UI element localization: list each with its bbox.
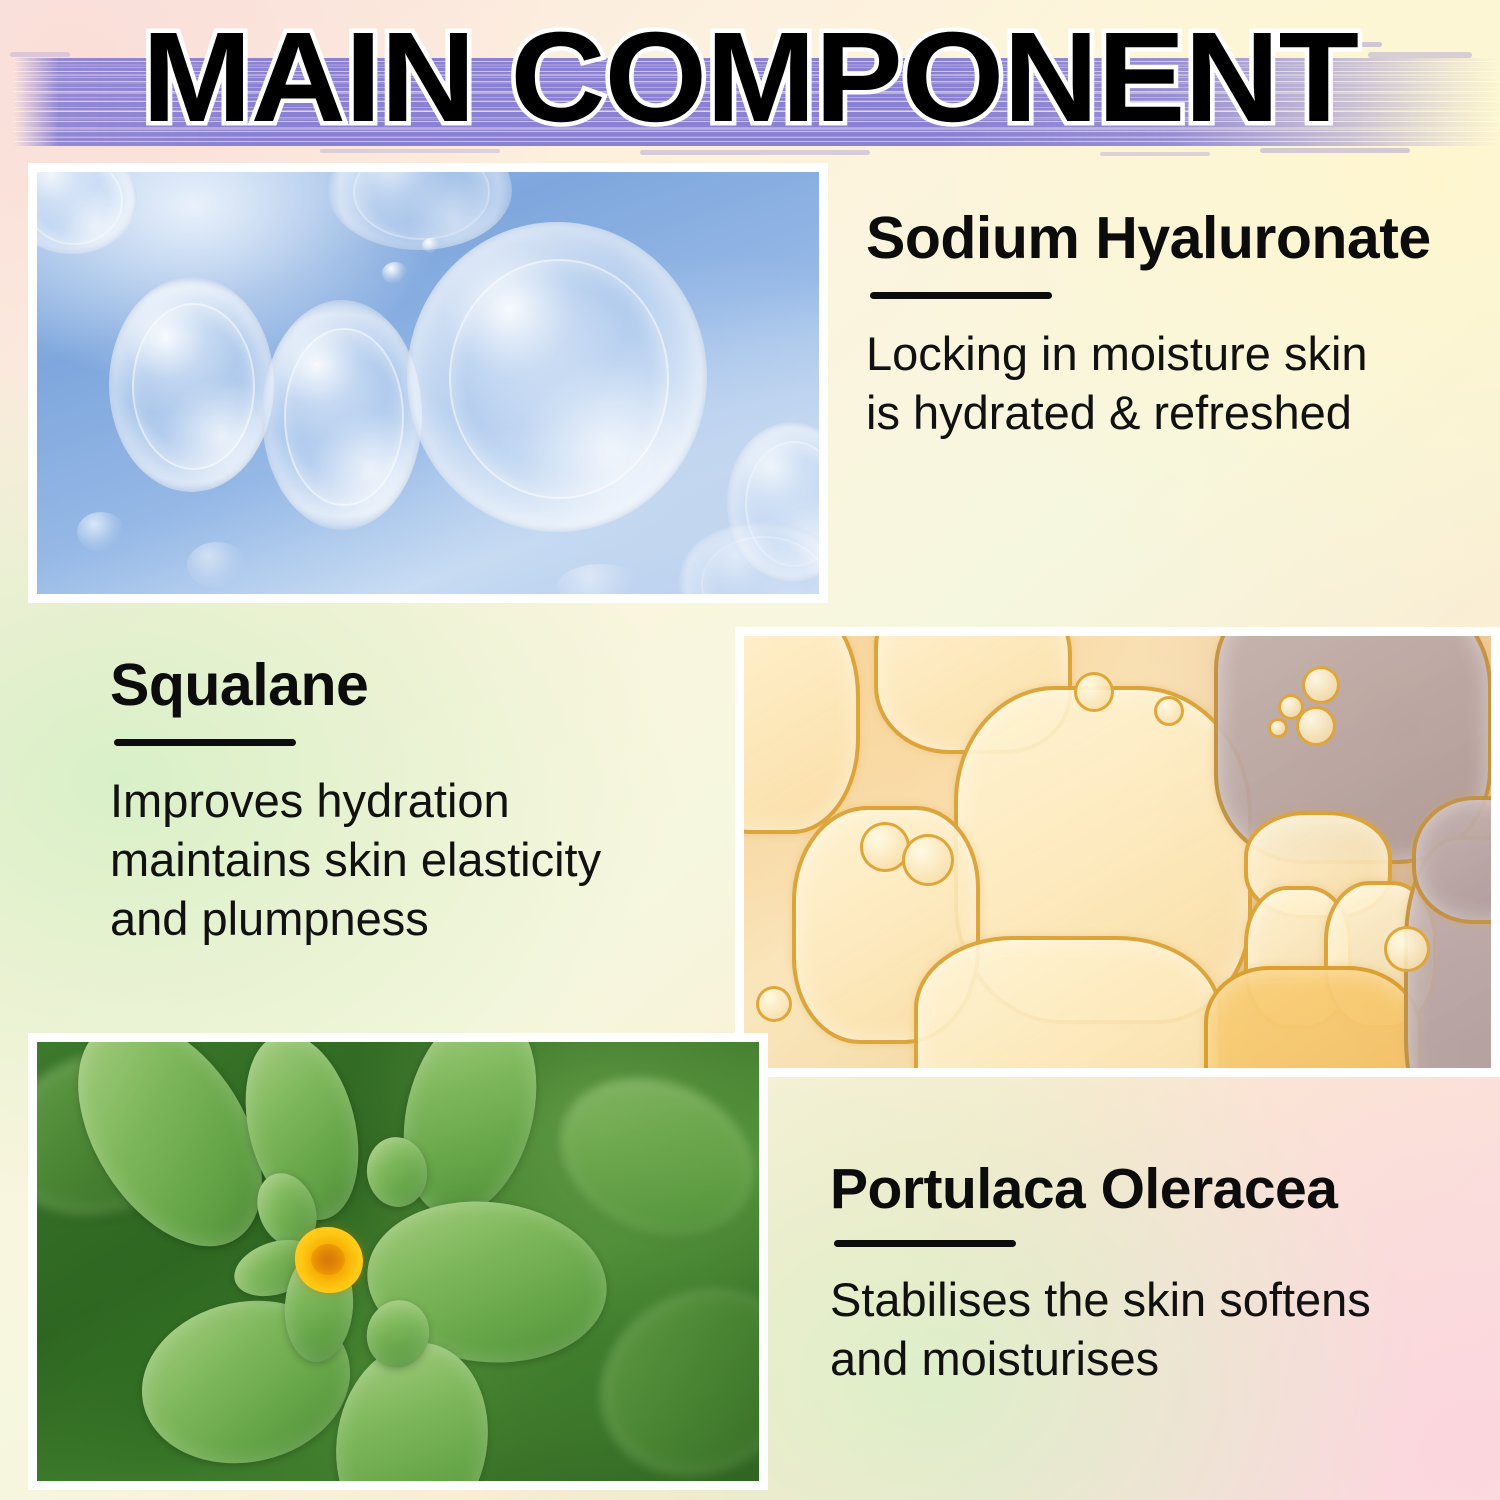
title-divider — [870, 292, 1052, 299]
ingredient-title: Squalane — [110, 653, 730, 717]
brush-wisp — [1100, 152, 1210, 156]
ingredient-description: Stabilises the skin softens and moisturi… — [830, 1271, 1490, 1389]
oil-bubble — [1296, 706, 1336, 746]
oil-cells-photo — [735, 627, 1500, 1077]
yellow-flower — [295, 1227, 363, 1293]
water-bubbles-photo — [28, 163, 828, 603]
bubble — [382, 262, 408, 284]
header-banner: MAIN COMPONENT — [0, 0, 1500, 160]
oil-bubble — [1302, 666, 1340, 704]
bubble — [557, 564, 647, 603]
oil-bubble — [1268, 718, 1288, 738]
oil-bubble — [1154, 696, 1184, 726]
bubble — [77, 512, 125, 552]
ingredient-text-squalane: Squalane Improves hydration maintains sk… — [110, 653, 730, 949]
ingredient-description: Locking in moisture skin is hydrated & r… — [866, 325, 1486, 443]
ingredient-text-sodium-hyaluronate: Sodium Hyaluronate Locking in moisture s… — [866, 206, 1486, 443]
ingredient-text-portulaca-oleracea: Portulaca Oleracea Stabilises the skin s… — [830, 1158, 1490, 1389]
brush-wisp — [640, 150, 870, 155]
oil-bubble — [902, 834, 954, 886]
ingredient-title: Sodium Hyaluronate — [866, 206, 1486, 270]
page-title: MAIN COMPONENT — [0, 8, 1500, 148]
bubble — [407, 222, 707, 532]
ingredient-description: Improves hydration maintains skin elasti… — [110, 772, 730, 948]
title-divider — [834, 1240, 1016, 1247]
ingredient-title: Portulaca Oleracea — [830, 1158, 1490, 1220]
bubble — [187, 542, 247, 588]
brush-wisp — [320, 149, 500, 153]
title-divider — [114, 739, 296, 746]
oil-cell — [914, 936, 1222, 1077]
bubble — [422, 238, 440, 253]
oil-bubble — [1384, 926, 1430, 972]
oil-bubble — [756, 986, 792, 1022]
oil-cell — [1204, 966, 1422, 1077]
purslane-plant-photo — [28, 1033, 768, 1490]
oil-cell — [735, 627, 860, 834]
bubble — [262, 300, 422, 530]
oil-bubble — [1074, 672, 1114, 712]
bubble — [109, 277, 274, 492]
main-component-poster: MAIN COMPONENT Sodium Hyaluronate Lockin… — [0, 0, 1500, 1500]
